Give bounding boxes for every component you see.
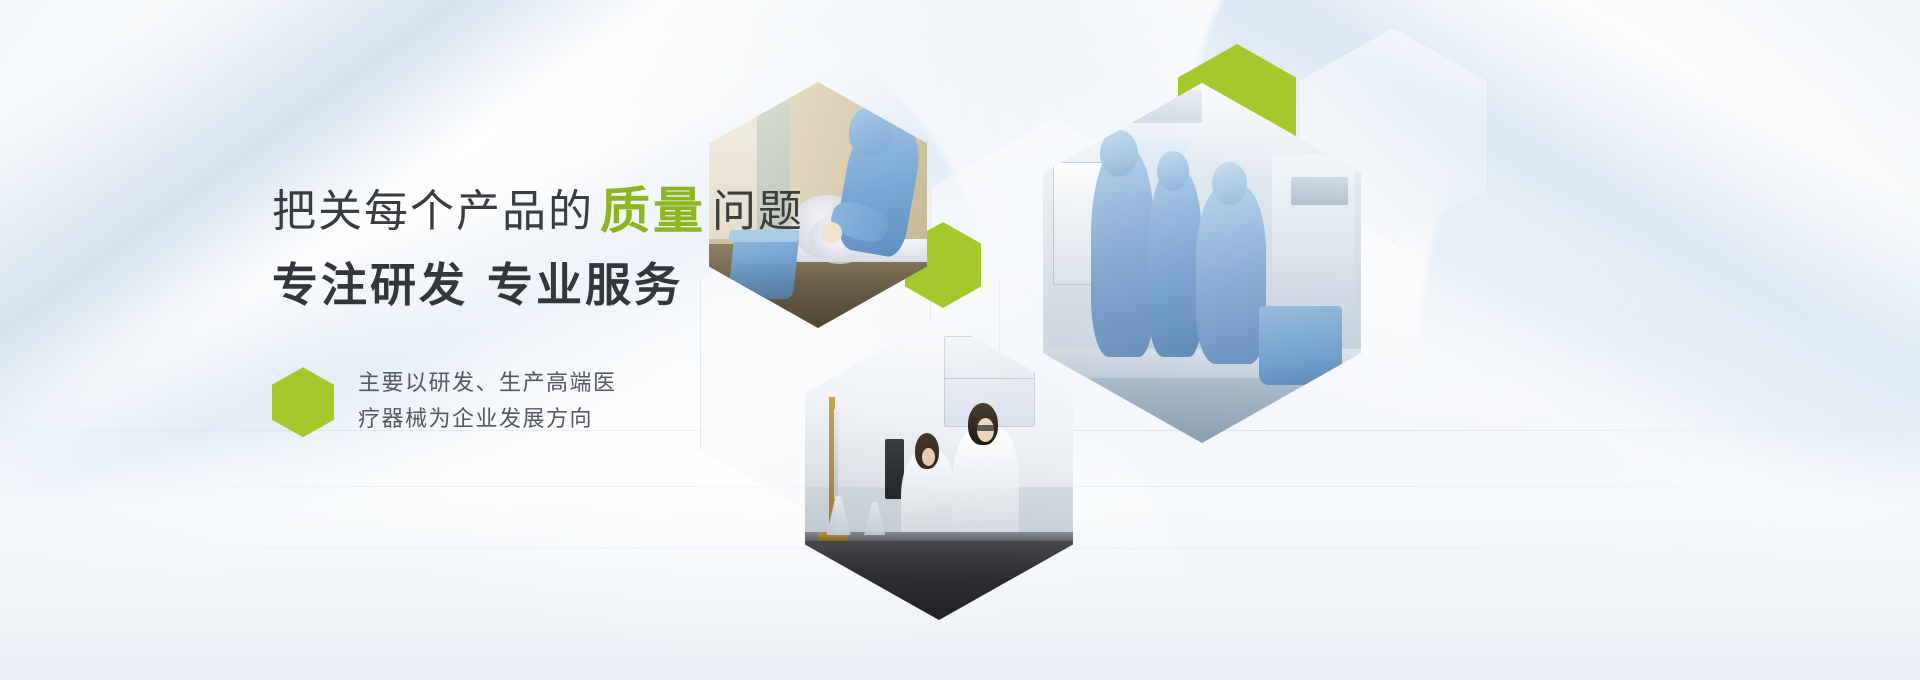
headline-primary-prefix: 把关每个产品的 <box>272 186 594 237</box>
subtext-line-2: 疗器械为企业发展方向 <box>358 402 617 438</box>
banner-text-block: 把关每个产品的质量问题 专注研发 专业服务 主要以研发、生产高端医 疗器械为企业… <box>272 186 912 439</box>
hero-banner: 把关每个产品的质量问题 专注研发 专业服务 主要以研发、生产高端医 疗器械为企业… <box>0 0 1920 680</box>
subtext-line-1: 主要以研发、生产高端医 <box>358 366 617 402</box>
hexagon-bullet-icon <box>272 367 334 437</box>
subtext-block: 主要以研发、生产高端医 疗器械为企业发展方向 <box>358 366 617 439</box>
headline-primary: 把关每个产品的质量问题 <box>272 186 912 236</box>
subtext-row: 主要以研发、生产高端医 疗器械为企业发展方向 <box>272 366 912 439</box>
headline-primary-suffix: 问题 <box>712 186 804 237</box>
headline-secondary: 专注研发 专业服务 <box>272 262 912 308</box>
headline-primary-highlight: 质量 <box>594 182 712 240</box>
